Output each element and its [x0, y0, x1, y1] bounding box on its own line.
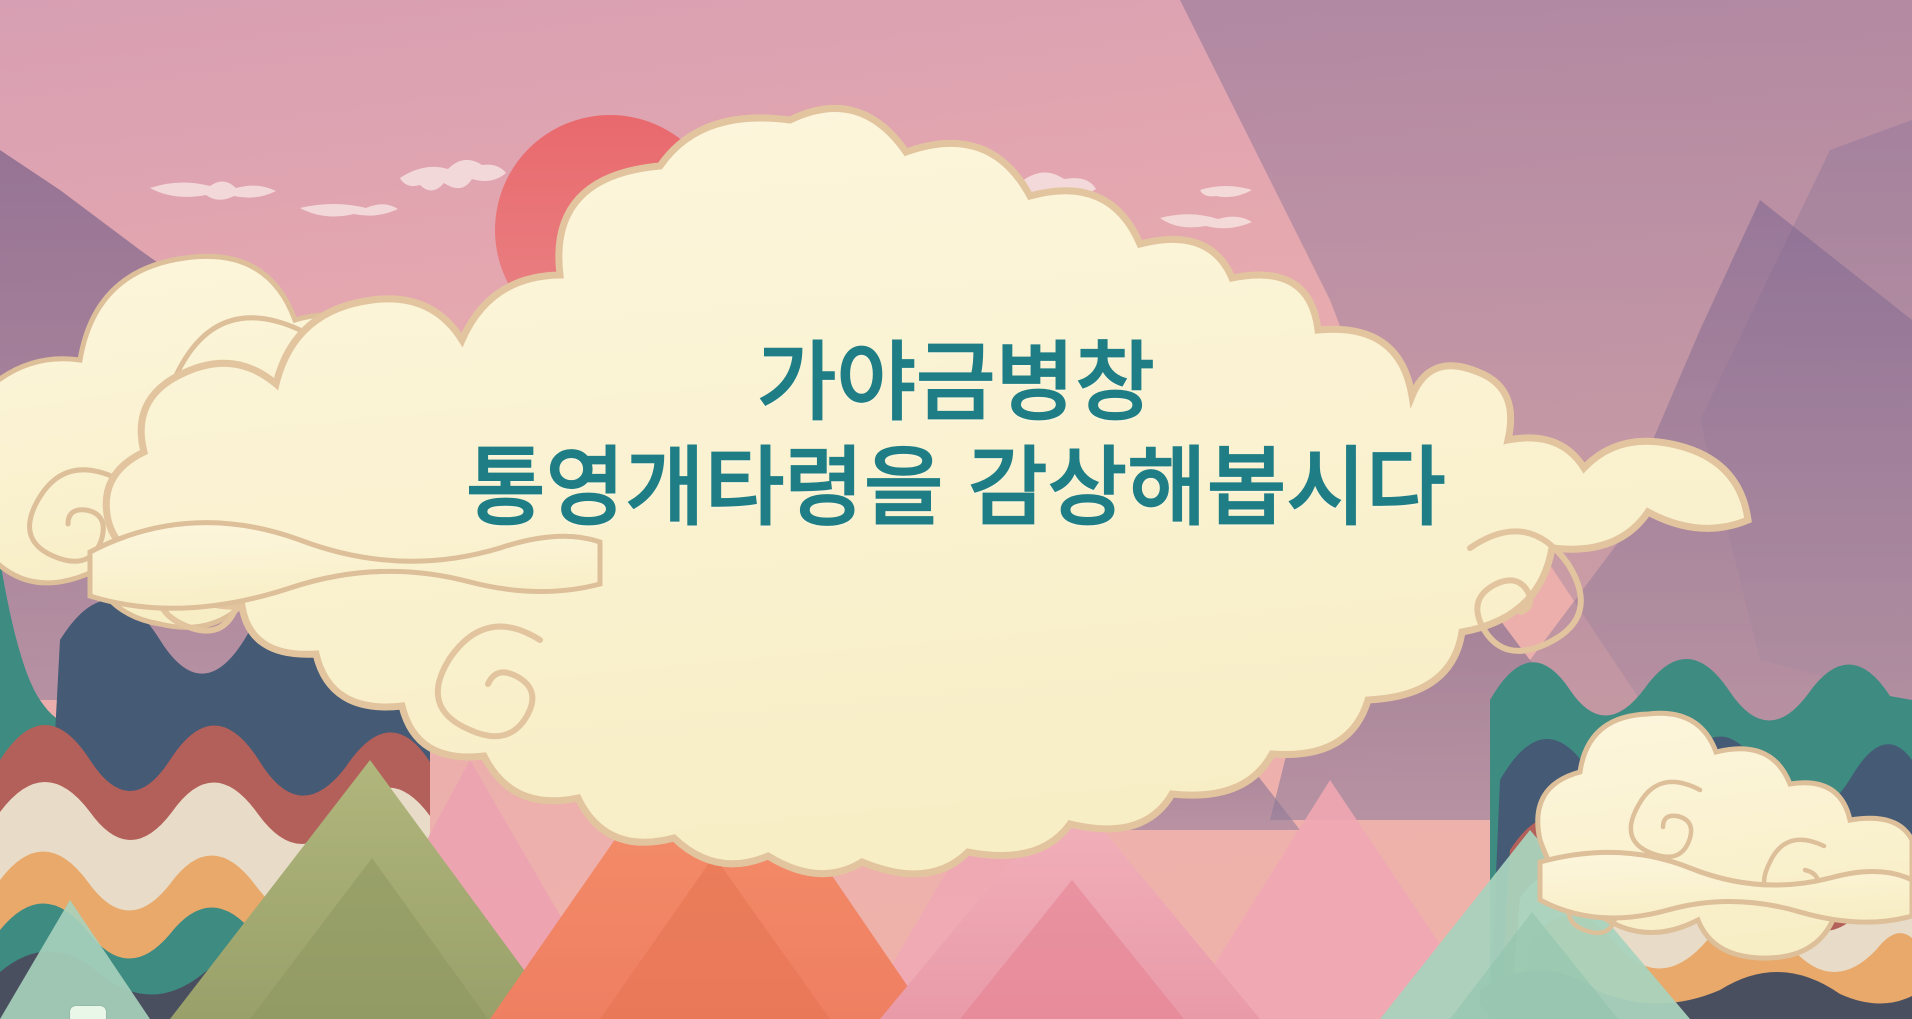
illustration-scene — [0, 0, 1912, 1019]
slide-canvas: 가야금병창 통영개타령을 감상해봅시다 — [0, 0, 1912, 1019]
bottom-ui-chip[interactable] — [70, 1006, 106, 1019]
